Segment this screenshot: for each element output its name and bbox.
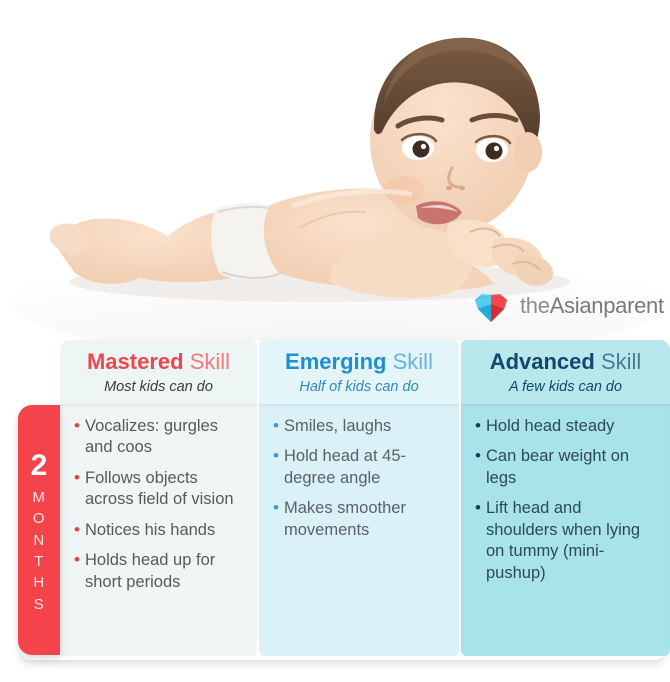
list-item: Can bear weight on legs — [475, 446, 656, 489]
list-item: Hold head at 45-degree angle — [273, 446, 445, 489]
column-subtitle-emerging: Half of kids can do — [259, 379, 459, 395]
skill-list-emerging: Smiles, laughs Hold head at 45-degree an… — [273, 416, 445, 541]
list-item: Smiles, laughs — [273, 416, 445, 437]
list-item: Follows objects across field of vision — [74, 468, 243, 511]
age-number: 2 — [31, 451, 48, 481]
list-item: Hold head steady — [475, 416, 656, 437]
list-item: Holds head up for short periods — [74, 550, 243, 593]
column-body-emerging: Smiles, laughs Hold head at 45-degree an… — [259, 404, 459, 656]
column-advanced: Advanced Skill A few kids can do Hold he… — [461, 340, 670, 656]
column-title-strong: Emerging — [285, 349, 386, 374]
logo-wordmark: theAsianparent — [520, 293, 664, 319]
column-subtitle-advanced: A few kids can do — [461, 379, 670, 395]
column-title-light: Skill — [393, 349, 433, 374]
age-unit-letter: H — [33, 572, 44, 593]
heart-icon — [470, 288, 512, 324]
column-title-strong: Mastered — [87, 349, 184, 374]
age-unit-letter: M — [33, 487, 46, 508]
age-unit-letter: S — [34, 594, 45, 615]
age-unit-letter: O — [33, 508, 45, 529]
logo-text-asianparent: Asianparent — [550, 293, 664, 318]
skill-list-mastered: Vocalizes: gurgles and coos Follows obje… — [74, 416, 243, 593]
column-title-advanced: Advanced Skill — [461, 348, 670, 376]
age-unit: M O N T H S — [33, 487, 46, 615]
theasianparent-logo: theAsianparent — [470, 286, 666, 326]
skill-columns: Mastered Skill Most kids can do Vocalize… — [60, 340, 670, 656]
age-tab: 2 M O N T H S — [18, 405, 60, 655]
age-unit-letter: N — [33, 530, 44, 551]
column-header-advanced: Advanced Skill A few kids can do — [461, 340, 670, 404]
infographic-page: theAsianparent 2 M O N T H S Mastered Sk… — [0, 0, 670, 682]
column-title-light: Skill — [601, 349, 641, 374]
list-item: Lift head and shoulders when lying on tu… — [475, 498, 656, 584]
list-item: Notices his hands — [74, 520, 243, 541]
column-header-mastered: Mastered Skill Most kids can do — [60, 340, 257, 404]
column-title-mastered: Mastered Skill — [60, 348, 257, 376]
column-emerging: Emerging Skill Half of kids can do Smile… — [259, 340, 459, 656]
column-header-emerging: Emerging Skill Half of kids can do — [259, 340, 459, 404]
list-item: Makes smoother movements — [273, 498, 445, 541]
column-subtitle-mastered: Most kids can do — [60, 379, 257, 395]
list-item: Vocalizes: gurgles and coos — [74, 416, 243, 459]
column-title-emerging: Emerging Skill — [259, 348, 459, 376]
column-title-strong: Advanced — [490, 349, 595, 374]
column-mastered: Mastered Skill Most kids can do Vocalize… — [60, 340, 257, 656]
column-title-light: Skill — [190, 349, 230, 374]
column-body-advanced: Hold head steady Can bear weight on legs… — [461, 404, 670, 656]
column-body-mastered: Vocalizes: gurgles and coos Follows obje… — [60, 404, 257, 656]
age-unit-letter: T — [34, 551, 44, 572]
skill-list-advanced: Hold head steady Can bear weight on legs… — [475, 416, 656, 584]
logo-text-the: the — [520, 293, 550, 318]
